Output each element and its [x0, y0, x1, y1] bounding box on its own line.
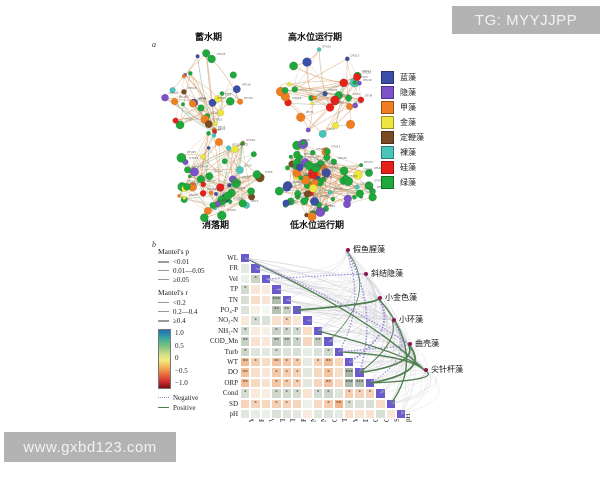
- significance-star: *: [324, 391, 332, 396]
- significance-star: **: [241, 339, 249, 344]
- matrix-row-label-9: Turb: [194, 348, 238, 356]
- svg-text:OTU57: OTU57: [319, 176, 328, 180]
- matrix-cell: *: [240, 388, 250, 398]
- svg-text:OTU45: OTU45: [284, 184, 293, 188]
- matrix-cell: *: [292, 357, 302, 367]
- svg-text:OTU23: OTU23: [213, 118, 222, 122]
- matrix-cell: [334, 378, 344, 388]
- svg-text:OTU13: OTU13: [189, 193, 198, 197]
- algae-legend-label-5: 裸藻: [400, 147, 416, 158]
- significance-star: **: [335, 401, 343, 406]
- matrix-cell: [323, 336, 333, 346]
- svg-text:OTU1: OTU1: [218, 204, 226, 208]
- species-label-2: 小金色藻: [385, 292, 417, 303]
- significance-star: **: [283, 308, 291, 313]
- significance-star: *: [355, 391, 363, 396]
- significance-star: ***: [272, 297, 280, 302]
- matrix-cell: [334, 367, 344, 377]
- svg-text:OTU27: OTU27: [242, 176, 251, 180]
- matrix-cell: [396, 409, 406, 419]
- significance-star: **: [272, 339, 280, 344]
- matrix-cell: *: [292, 388, 302, 398]
- matrix-cell: [261, 399, 271, 409]
- significance-star: *: [293, 370, 301, 375]
- matrix-row-label-0: WL: [194, 254, 238, 262]
- matrix-cell: [323, 409, 333, 419]
- svg-text:OTU65: OTU65: [348, 174, 357, 178]
- significance-star: *: [272, 349, 280, 354]
- svg-text:OTU17: OTU17: [341, 93, 350, 97]
- matrix-cell: *: [365, 388, 375, 398]
- species-node-2: [378, 296, 382, 300]
- significance-star: ***: [345, 380, 353, 385]
- sign-label-1: Positive: [173, 404, 196, 412]
- matrix-cell: *: [323, 399, 333, 409]
- algae-legend-label-3: 金藻: [400, 117, 416, 128]
- svg-text:OTU43: OTU43: [187, 150, 196, 154]
- algae-legend-swatch-5: [381, 146, 394, 159]
- matrix-cell: [313, 378, 323, 388]
- svg-text:OTU21: OTU21: [335, 101, 344, 105]
- matrix-cell: *: [271, 367, 281, 377]
- svg-text:OTU29: OTU29: [198, 97, 207, 101]
- svg-text:OTU19: OTU19: [246, 138, 255, 142]
- matrix-cell: *: [250, 357, 260, 367]
- significance-star: **: [314, 339, 322, 344]
- svg-text:OTU19: OTU19: [242, 82, 251, 86]
- significance-star: *: [272, 370, 280, 375]
- matrix-row-label-12: ORP: [194, 379, 238, 387]
- colorbar-tick-1: 0.5: [175, 342, 188, 350]
- svg-text:OTU31: OTU31: [227, 208, 236, 212]
- significance-star: *: [293, 328, 301, 333]
- algae-legend-row-0: 蓝藻: [381, 70, 451, 85]
- svg-text:OTU71: OTU71: [365, 187, 374, 191]
- significance-star: *: [283, 328, 291, 333]
- significance-star: *: [293, 339, 301, 344]
- matrix-cell: *: [292, 378, 302, 388]
- matrix-cell: [302, 315, 312, 325]
- matrix-cell: *: [271, 326, 281, 336]
- matrix-cell: *: [271, 388, 281, 398]
- svg-text:OTU15: OTU15: [189, 182, 198, 186]
- matrix-cell: [261, 347, 271, 357]
- algae-legend-row-7: 绿藻: [381, 175, 451, 190]
- matrix-cell: [292, 399, 302, 409]
- network-graph-bottom-right: OTU1OTU3OTU5OTU7OTU9OTU11OTU13OTU15OTU17…: [258, 128, 393, 223]
- matrix-cell: [313, 409, 323, 419]
- svg-text:OTU29: OTU29: [233, 197, 242, 201]
- algae-legend-label-6: 硅藻: [400, 162, 416, 173]
- matrix-row-label-15: pH: [194, 410, 238, 418]
- significance-star: *: [272, 401, 280, 406]
- matrix-cell: [302, 399, 312, 409]
- significance-star: *: [283, 380, 291, 385]
- r-items-line-1: [158, 311, 169, 312]
- svg-text:OTU37: OTU37: [207, 179, 216, 183]
- matrix-cell: [250, 295, 260, 305]
- significance-star: ***: [345, 370, 353, 375]
- matrix-cell: **: [271, 357, 281, 367]
- matrix-cell: [282, 409, 292, 419]
- significance-star: *: [324, 349, 332, 354]
- svg-text:OTU51: OTU51: [217, 199, 226, 203]
- matrix-cell: [240, 409, 250, 419]
- significance-star: *: [345, 391, 353, 396]
- matrix-cell: *: [344, 388, 354, 398]
- matrix-cell: [375, 388, 385, 398]
- svg-text:OTU15: OTU15: [316, 147, 325, 151]
- matrix-cell: [250, 388, 260, 398]
- colorbar-tick-4: −1.0: [175, 379, 188, 387]
- species-label-4: 曲壳藻: [415, 338, 439, 349]
- algae-legend-swatch-3: [381, 116, 394, 129]
- matrix-cell: [250, 347, 260, 357]
- matrix-cell: **: [240, 336, 250, 346]
- panel-a-networks: 蓄水期 高水位运行期 消落期 低水位运行期 OTU1OTU3OTU5OTU7OT…: [140, 30, 520, 235]
- algae-legend-label-7: 绿藻: [400, 177, 416, 188]
- matrix-cell: [302, 326, 312, 336]
- svg-text:OTU11: OTU11: [329, 166, 338, 170]
- species-label-0: 假鱼腥藻: [353, 244, 385, 255]
- significance-star: **: [283, 339, 291, 344]
- svg-text:OTU13: OTU13: [331, 144, 340, 148]
- significance-star: *: [241, 328, 249, 333]
- algae-legend-row-5: 裸藻: [381, 145, 451, 160]
- algae-legend-swatch-1: [381, 86, 394, 99]
- matrix-cell: [250, 326, 260, 336]
- significance-star: **: [272, 308, 280, 313]
- matrix-cell: [334, 347, 344, 357]
- matrix-cell: *: [240, 326, 250, 336]
- significance-star: *: [272, 328, 280, 333]
- matrix-cell: **: [240, 367, 250, 377]
- svg-text:OTU11: OTU11: [179, 95, 188, 99]
- matrix-cell: [240, 263, 250, 273]
- significance-star: **: [241, 370, 249, 375]
- svg-text:OTU7: OTU7: [245, 163, 253, 167]
- algae-legend-swatch-4: [381, 131, 394, 144]
- matrix-row-label-11: DO: [194, 368, 238, 376]
- algae-legend-row-1: 隐藻: [381, 85, 451, 100]
- significance-star: *: [345, 401, 353, 406]
- matrix-cell: **: [271, 305, 281, 315]
- significance-star: *: [283, 360, 291, 365]
- matrix-cell: **: [323, 357, 333, 367]
- matrix-cell: [354, 399, 364, 409]
- matrix-cell: [261, 409, 271, 419]
- watermark-badge-bottom-left: www.gxbd123.com: [4, 432, 176, 462]
- svg-text:OTU9: OTU9: [365, 94, 373, 98]
- colorbar-tick-2: 0: [175, 354, 188, 362]
- matrix-cell: [261, 274, 271, 284]
- matrix-cell: [354, 367, 364, 377]
- svg-text:OTU25: OTU25: [217, 52, 226, 56]
- matrix-cell: [334, 357, 344, 367]
- matrix-cell: [250, 263, 260, 273]
- matrix-cell: [250, 284, 260, 294]
- matrix-row-label-4: TN: [194, 296, 238, 304]
- significance-star: *: [324, 370, 332, 375]
- species-node-1: [364, 272, 368, 276]
- matrix-cell: *: [282, 399, 292, 409]
- matrix-cell: *: [292, 336, 302, 346]
- panel-b-mantel: Mantel's p <0.010.01—0.05≥0.05 Mantel's …: [150, 243, 530, 473]
- matrix-row-label-5: PO₄-P: [194, 306, 238, 314]
- svg-text:OTU49: OTU49: [214, 169, 223, 173]
- matrix-cell: *: [250, 274, 260, 284]
- svg-text:OTU33: OTU33: [189, 156, 198, 160]
- matrix-cell: *: [282, 326, 292, 336]
- matrix-row-label-6: NO₃-N: [194, 316, 238, 324]
- svg-text:OTU41: OTU41: [309, 210, 318, 214]
- significance-star: *: [241, 349, 249, 354]
- significance-star: *: [251, 360, 259, 365]
- svg-text:OTU61: OTU61: [292, 180, 301, 184]
- svg-text:OTU23: OTU23: [338, 156, 347, 160]
- svg-text:OTU49: OTU49: [304, 173, 313, 177]
- matrix-cell: [250, 378, 260, 388]
- svg-text:OTU55: OTU55: [326, 204, 335, 208]
- matrix-cell: *: [323, 347, 333, 357]
- matrix-cell: [292, 409, 302, 419]
- significance-star: *: [251, 276, 259, 281]
- matrix-cell: [240, 295, 250, 305]
- matrix-cell: [261, 284, 271, 294]
- matrix-cell: [375, 409, 385, 419]
- svg-text:OTU53: OTU53: [310, 194, 319, 198]
- svg-text:OTU21: OTU21: [240, 143, 249, 147]
- svg-text:OTU21: OTU21: [291, 163, 300, 167]
- svg-text:OTU69: OTU69: [361, 182, 370, 186]
- matrix-cell: [292, 315, 302, 325]
- matrix-cell: **: [334, 399, 344, 409]
- svg-text:OTU39: OTU39: [237, 186, 246, 190]
- significance-star: *: [272, 380, 280, 385]
- algae-legend-row-6: 硅藻: [381, 160, 451, 175]
- svg-text:OTU35: OTU35: [212, 128, 221, 132]
- matrix-cell: [250, 367, 260, 377]
- algae-legend-swatch-7: [381, 176, 394, 189]
- r-items-line-2: [158, 320, 169, 322]
- svg-text:OTU41: OTU41: [207, 187, 216, 191]
- matrix-cell: [386, 399, 396, 409]
- matrix-cell: *: [250, 315, 260, 325]
- matrix-cell: [240, 315, 250, 325]
- matrix-row-label-7: NH₃-N: [194, 327, 238, 335]
- significance-star: *: [283, 370, 291, 375]
- svg-text:OTU15: OTU15: [293, 96, 302, 100]
- matrix-row-label-1: FR: [194, 264, 238, 272]
- significance-star: **: [241, 380, 249, 385]
- matrix-cell: [271, 315, 281, 325]
- svg-text:OTU19: OTU19: [363, 78, 372, 82]
- species-node-5: [424, 368, 428, 372]
- matrix-cell: [250, 336, 260, 346]
- significance-star: *: [366, 391, 374, 396]
- matrix-cell: [354, 409, 364, 419]
- svg-text:OTU1: OTU1: [211, 110, 219, 114]
- matrix-cell: [344, 409, 354, 419]
- svg-text:OTU25: OTU25: [329, 88, 338, 92]
- matrix-cell: [250, 409, 260, 419]
- svg-text:OTU63: OTU63: [314, 158, 323, 162]
- matrix-cell: *: [240, 284, 250, 294]
- matrix-cell: [261, 295, 271, 305]
- matrix-cell: ***: [344, 367, 354, 377]
- matrix-cell: [365, 399, 375, 409]
- significance-star: *: [283, 318, 291, 323]
- matrix-cell: **: [240, 357, 250, 367]
- matrix-cell: [261, 388, 271, 398]
- matrix-cell: ***: [344, 378, 354, 388]
- species-node-4: [408, 342, 412, 346]
- matrix-cell: [292, 305, 302, 315]
- matrix-cell: *: [271, 347, 281, 357]
- matrix-row-label-13: Cond: [194, 389, 238, 397]
- matrix-cell: [261, 315, 271, 325]
- svg-text:OTU73: OTU73: [364, 160, 373, 164]
- significance-star: *: [293, 360, 301, 365]
- svg-text:OTU13: OTU13: [351, 54, 360, 58]
- matrix-cell: **: [282, 305, 292, 315]
- matrix-cell: [302, 347, 312, 357]
- matrix-cell: *: [292, 367, 302, 377]
- significance-star: *: [283, 401, 291, 406]
- svg-text:OTU39: OTU39: [317, 207, 326, 211]
- svg-text:OTU21: OTU21: [170, 91, 179, 95]
- algae-legend: 蓝藻隐藻甲藻金藻定鞭藻裸藻硅藻绿藻: [381, 70, 451, 190]
- p-items-line-2: [158, 279, 169, 280]
- svg-text:OTU15: OTU15: [188, 86, 197, 90]
- matrix-cell: [282, 295, 292, 305]
- matrix-cell: [271, 409, 281, 419]
- matrix-cell: **: [323, 378, 333, 388]
- matrix-cell: [313, 399, 323, 409]
- matrix-cell: *: [323, 367, 333, 377]
- svg-text:OTU19: OTU19: [302, 155, 311, 159]
- algae-legend-swatch-6: [381, 161, 394, 174]
- sign-line-0: [158, 397, 169, 398]
- matrix-cell: [240, 253, 250, 263]
- algae-legend-label-2: 甲藻: [400, 102, 416, 113]
- significance-star: **: [241, 360, 249, 365]
- matrix-cell: *: [250, 399, 260, 409]
- matrix-cell: *: [313, 388, 323, 398]
- svg-text:OTU47: OTU47: [200, 165, 209, 169]
- species-node-0: [346, 248, 350, 252]
- matrix-cell: [240, 399, 250, 409]
- matrix-cell: [261, 357, 271, 367]
- p-items-line-1: [158, 270, 169, 271]
- matrix-row-label-2: Vel: [194, 275, 238, 283]
- p-items-label-0: <0.01: [173, 258, 189, 266]
- matrix-cell: [375, 399, 385, 409]
- matrix-cell: [292, 347, 302, 357]
- matrix-cell: **: [313, 336, 323, 346]
- matrix-cell: [344, 357, 354, 367]
- matrix-cell: [313, 367, 323, 377]
- matrix-cell: *: [313, 357, 323, 367]
- svg-text:OTU17: OTU17: [217, 96, 226, 100]
- significance-star: *: [272, 391, 280, 396]
- matrix-cell: [302, 409, 312, 419]
- matrix-cell: **: [282, 336, 292, 346]
- matrix-cell: [313, 326, 323, 336]
- matrix-cell: [302, 336, 312, 346]
- matrix-cell: [282, 347, 292, 357]
- matrix-cell: **: [240, 378, 250, 388]
- matrix-cell: *: [271, 378, 281, 388]
- matrix-cell: **: [271, 336, 281, 346]
- significance-star: **: [272, 360, 280, 365]
- matrix-row-label-3: TP: [194, 285, 238, 293]
- significance-star: *: [314, 360, 322, 365]
- significance-star: *: [251, 401, 259, 406]
- algae-legend-row-3: 金藻: [381, 115, 451, 130]
- svg-text:OTU3: OTU3: [303, 138, 311, 142]
- r-items-label-0: <0.2: [173, 299, 186, 307]
- algae-legend-label-1: 隐藻: [400, 87, 416, 98]
- species-label-5: 尖针杆藻: [431, 364, 463, 375]
- sign-line-1: [158, 407, 169, 408]
- p-items-line-0: [158, 261, 169, 263]
- matrix-cell: [261, 305, 271, 315]
- algae-legend-row-4: 定鞭藻: [381, 130, 451, 145]
- matrix-cell: *: [344, 399, 354, 409]
- matrix-cell: [313, 347, 323, 357]
- svg-text:OTU23: OTU23: [354, 100, 363, 104]
- matrix-cell: [271, 284, 281, 294]
- matrix-cell: *: [323, 388, 333, 398]
- colorbar-tick-0: 1.0: [175, 329, 188, 337]
- svg-text:OTU7: OTU7: [353, 92, 361, 96]
- significance-star: *: [293, 380, 301, 385]
- significance-star: *: [314, 391, 322, 396]
- matrix-cell: [386, 409, 396, 419]
- matrix-cell: ***: [271, 295, 281, 305]
- matrix-cell: [261, 378, 271, 388]
- algae-legend-row-2: 甲藻: [381, 100, 451, 115]
- matrix-cell: ***: [354, 378, 364, 388]
- algae-legend-swatch-0: [381, 71, 394, 84]
- matrix-cell: [302, 367, 312, 377]
- colorbar-gradient: [158, 329, 171, 389]
- r-items-line-0: [158, 302, 169, 303]
- matrix-cell: [334, 388, 344, 398]
- figure-canvas: a 蓄水期 高水位运行期 消落期 低水位运行期 OTU1OTU3OTU5OTU7…: [0, 0, 600, 480]
- significance-star: *: [283, 391, 291, 396]
- species-label-1: 斜结隐藻: [371, 268, 403, 279]
- significance-star: *: [241, 287, 249, 292]
- svg-text:OTU27: OTU27: [318, 93, 327, 97]
- algae-legend-label-4: 定鞭藻: [400, 132, 424, 143]
- matrix-cell: [302, 378, 312, 388]
- colorbar-tick-3: −0.5: [175, 367, 188, 375]
- matrix-cell: [365, 409, 375, 419]
- svg-text:OTU43: OTU43: [314, 164, 323, 168]
- svg-text:OTU59: OTU59: [320, 194, 329, 198]
- matrix-cell: *: [282, 357, 292, 367]
- matrix-row-label-10: WT: [194, 358, 238, 366]
- matrix-cell: *: [240, 347, 250, 357]
- matrix-row-label-8: COD_Mn: [194, 337, 238, 345]
- significance-star: **: [324, 360, 332, 365]
- matrix-row-label-14: SD: [194, 400, 238, 408]
- matrix-cell: *: [292, 326, 302, 336]
- matrix-cell: [240, 274, 250, 284]
- svg-text:OTU7: OTU7: [185, 118, 193, 122]
